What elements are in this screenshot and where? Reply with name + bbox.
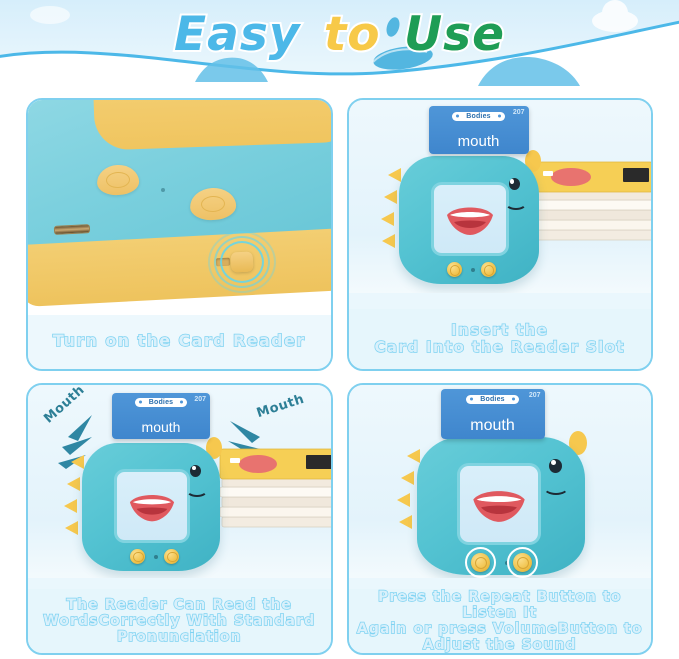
panel-caption: Press the Repeat Button to Listen It Aga… [349,589,652,653]
dino-spike-icon [67,477,80,491]
mouth-lips-image [471,485,527,523]
microphone-pinhole-icon [161,188,165,192]
panel-caption: The Reader Can Read the WordsCorrectly W… [28,589,331,653]
dino-spike-icon [397,493,410,507]
repeat-button[interactable] [130,549,145,564]
microphone-pinhole-icon [154,555,158,559]
microphone-pinhole-icon [471,268,475,272]
dino-spike-icon [381,212,394,226]
dino-eye-icon [509,178,520,190]
title-word-to: to [324,7,381,62]
panel-photo [28,100,331,315]
device-screen [114,469,190,543]
panel-photo: Bodies 207 mouth [349,385,652,578]
flashcard-category: Bodies [452,112,505,121]
steps-grid: Turn on the Card Reader [0,96,679,659]
mouth-lips-image [128,489,176,523]
panel-turn-on: Turn on the Card Reader [26,98,333,371]
panel-caption: Insert the Card Into the Reader Slot [349,309,652,368]
page-title: Easy to Use [0,7,679,62]
dino-smile-icon [543,479,569,495]
flashcard-word: mouth [429,133,529,150]
flashcard-word: mouth [112,419,210,435]
flashcard-word: mouth [441,417,545,435]
mouth-lips-image [445,202,495,236]
device-closeup-scene [28,100,331,315]
repeat-button[interactable] [447,262,462,277]
dino-spike-icon [384,190,397,204]
title-word-use: Use [404,7,505,62]
flashcard-number: 207 [513,109,525,116]
panel-caption: Turn on the Card Reader [28,315,331,369]
dino-spike-icon [64,499,77,513]
dino-spike-icon [65,521,78,535]
panel-read-words: Mouth Mouth [26,383,333,656]
repeat-button-highlight [465,547,496,578]
dino-smile-icon [505,196,527,210]
flashcard: Bodies 207 mouth [112,393,210,439]
card-reader-device [78,421,238,571]
dino-eye-icon [190,465,201,477]
product-infographic: Easy to Use [0,0,679,659]
dino-smile-icon [186,483,208,497]
caption-text: Press the Repeat Button to Listen It Aga… [357,589,644,653]
panel-repeat-volume: Bodies 207 mouth Press the Repeat Button… [347,383,654,656]
caption-text: Insert the Card Into the Reader Slot [375,322,626,357]
volume-button-highlight [507,547,538,578]
device-screen [457,463,541,545]
flashcard-category: Bodies [466,395,519,404]
dino-eye-icon [549,459,562,473]
power-button[interactable] [230,251,253,272]
panel-photo: Bodies 207 mouth [349,100,652,293]
card-reader-device [395,134,555,284]
flashcard-number: 207 [194,396,206,403]
dino-spike-icon [399,515,412,529]
volume-button[interactable] [164,549,179,564]
dino-spike-icon [382,234,395,248]
dino-spike-icon [407,449,420,463]
caption-text: The Reader Can Read the WordsCorrectly W… [43,597,315,645]
panel-photo: Mouth Mouth [28,385,331,578]
dino-spike-icon [401,471,414,485]
caption-text: Turn on the Card Reader [53,332,306,350]
flashcard: Bodies 207 mouth [429,106,529,154]
usb-charging-port [54,224,90,235]
flashcard-number: 207 [529,392,541,399]
dino-spike-icon [71,455,84,469]
flashcard-category: Bodies [135,398,188,407]
device-top-yellow-panel [93,100,331,151]
title-word-easy: Easy [174,7,300,62]
flashcard: Bodies 207 mouth [441,389,545,439]
header-banner: Easy to Use [0,0,679,92]
device-screen [431,182,509,256]
dino-spike-icon [388,168,401,182]
panel-insert-card: Bodies 207 mouth Insert the Card Into th… [347,98,654,371]
volume-button[interactable] [481,262,496,277]
